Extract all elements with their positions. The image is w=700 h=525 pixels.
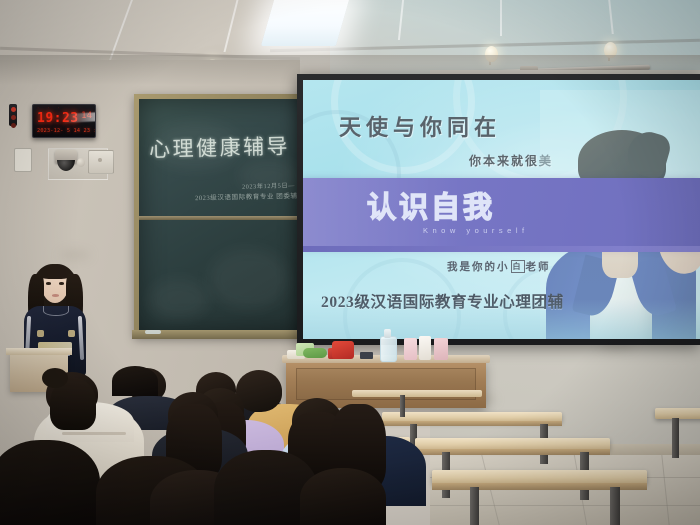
blackboard-panel-divider	[139, 216, 305, 220]
presenter-neckline	[43, 306, 69, 316]
bottle-pump	[384, 329, 391, 338]
alarm-device	[9, 104, 17, 126]
green-snack-roll	[303, 348, 327, 358]
pink-gift-box-2	[434, 338, 448, 360]
blackboard-note-line2: 2023级汉语国际教育专业 团委辅	[194, 190, 297, 202]
clock-glare	[63, 112, 96, 123]
led-wall-clock: · · · 19:23 14 2023-12- 5 14 23 : 59	[32, 104, 96, 138]
classroom-photo: · · · 19:23 14 2023-12- 5 14 23 : 59 心理健…	[0, 0, 700, 525]
desk-leg	[610, 487, 620, 525]
jacket-badge	[68, 330, 75, 337]
bench	[352, 390, 482, 397]
red-snack-bag	[332, 341, 354, 359]
white-gift-box	[419, 336, 431, 360]
wall-junction-box	[88, 150, 114, 174]
desk-leg	[672, 418, 679, 458]
presenter-eye	[46, 282, 51, 285]
dark-small-item	[360, 352, 373, 359]
slide-band-underline	[303, 246, 700, 252]
ceiling-grid-line	[500, 0, 502, 36]
slide-purple-band	[303, 178, 700, 246]
ceiling-light-panel	[261, 0, 350, 46]
hand-sanitizer-bottle	[380, 336, 397, 362]
projection-screen: 天使与你同在 你本来就很美 认识自我	[303, 80, 700, 339]
chalk-stick[interactable]	[145, 330, 161, 334]
screen-bottom-fade	[303, 299, 700, 339]
slide-band-subtitle-en: Know yourself	[423, 226, 529, 235]
slide-teacher-line: 我是你的小白老师	[447, 259, 551, 274]
desk-leg	[470, 487, 479, 525]
presenter-eye	[59, 282, 64, 285]
jacket-badge	[37, 330, 44, 337]
teacher-line-post: 老师	[526, 261, 551, 273]
junction-box-screw	[98, 158, 102, 162]
hoodie-drawstring	[62, 432, 126, 435]
audience-hair-bun-knot	[42, 368, 68, 388]
light-switch[interactable]	[14, 148, 32, 172]
desk-top	[432, 470, 647, 484]
clock-date: 2023-12- 5 14 23 : 59	[37, 128, 96, 134]
slide-band-title: 认识自我	[367, 184, 495, 226]
side-lectern-top	[6, 348, 72, 355]
desk-edge	[382, 421, 562, 426]
pink-gift-box	[404, 338, 417, 360]
audience-foreground-head	[300, 468, 386, 525]
blackboard-title: 心理健康辅导	[149, 130, 291, 163]
teacher-line-pre: 我是你的小	[447, 261, 510, 273]
slide-heading: 天使与你同在	[339, 110, 501, 142]
teacher-line-boxed-char: 白	[511, 260, 525, 273]
audience-foreground-head	[0, 440, 100, 525]
presenter-mouth	[52, 294, 59, 297]
audience-head-back	[112, 366, 158, 396]
camera-knob	[77, 158, 85, 167]
clock-top-label: · · ·	[37, 106, 63, 110]
bench-leg	[400, 395, 405, 417]
